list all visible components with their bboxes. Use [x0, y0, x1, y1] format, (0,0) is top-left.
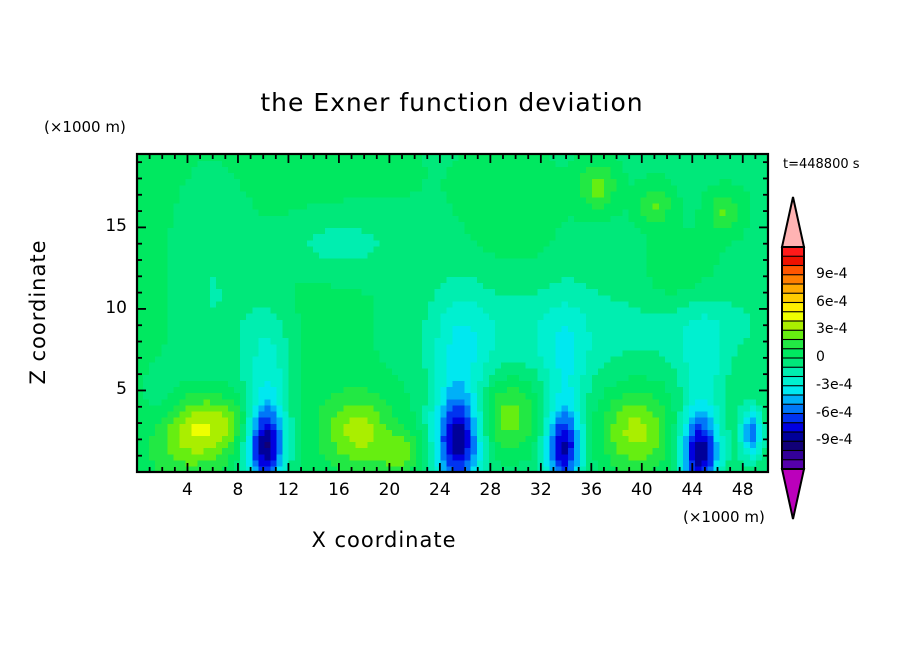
- colorbar-tick-label: 3e-4: [816, 321, 847, 337]
- x-tick-label: 4: [162, 480, 212, 500]
- x-tick-label: 24: [415, 480, 465, 500]
- colorbar-tick-label: -3e-4: [816, 377, 853, 393]
- x-tick-label: 28: [465, 480, 515, 500]
- colorbar-tick-label: -6e-4: [816, 405, 853, 421]
- y-tick-label: 15: [79, 216, 127, 236]
- x-tick-label: 48: [718, 480, 768, 500]
- chart-figure: the Exner function deviation (×1000 m) Z…: [0, 0, 904, 654]
- x-tick-label: 36: [566, 480, 616, 500]
- contour-plot-canvas: [0, 0, 904, 654]
- x-tick-label: 32: [516, 480, 566, 500]
- colorbar-tick-label: -9e-4: [816, 432, 853, 448]
- y-tick-label: 5: [79, 379, 127, 399]
- colorbar-tick-label: 0: [816, 349, 825, 365]
- colorbar-tick-label: 6e-4: [816, 294, 847, 310]
- x-tick-label: 44: [667, 480, 717, 500]
- x-tick-label: 12: [263, 480, 313, 500]
- x-tick-label: 8: [213, 480, 263, 500]
- x-tick-label: 20: [364, 480, 414, 500]
- x-tick-label: 40: [617, 480, 667, 500]
- x-tick-label: 16: [314, 480, 364, 500]
- y-tick-label: 10: [79, 298, 127, 318]
- colorbar-tick-label: 9e-4: [816, 266, 847, 282]
